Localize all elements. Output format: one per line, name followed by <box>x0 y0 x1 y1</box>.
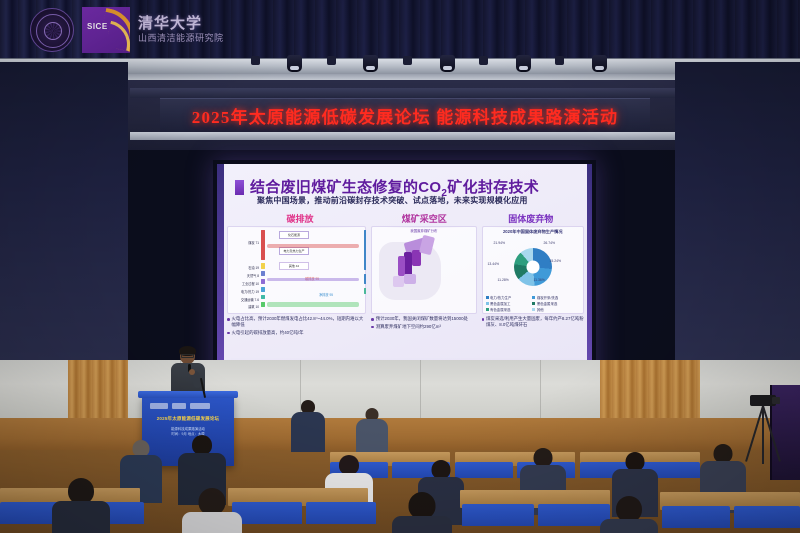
panel-pie-chart: 2020年中国固体废弃物生产情况 26.74% 21.94% 15.24% 13… <box>482 226 584 314</box>
stage-light-5 <box>592 55 607 72</box>
person-head <box>192 435 212 455</box>
stage-light-small-3 <box>403 56 412 65</box>
projection-screen: 结合废旧煤矿生态修复的CO2矿化封存技术 聚焦中国场景，推动前沿碳封存技术突破、… <box>213 160 596 393</box>
audience-seat <box>734 506 800 528</box>
slide-accent-right <box>587 164 592 389</box>
sankey-box-4: 净排放 95 <box>319 292 349 297</box>
slide-bullets: 火电占比高，预计2030年燃煤发电占比42.8～44.0%，短期内难以大幅降低 … <box>227 316 584 358</box>
wall-seam-4 <box>540 360 541 420</box>
sankey-label-1: 石油 19 <box>231 265 259 270</box>
person-head <box>409 492 436 519</box>
pie-chart-hole <box>526 261 539 274</box>
stage-light-3 <box>440 55 455 72</box>
bullet-item: 火电引起的碳排放量高，约40亿吨/年 <box>227 330 366 336</box>
legend-item-0: 电力/热力生产 <box>486 295 531 300</box>
bullet-item: 火电占比高，预计2030年燃煤发电占比42.8～44.0%，短期内难以大幅降低 <box>227 316 366 328</box>
legend-swatch-3 <box>532 302 535 305</box>
legend-label-1: 煤炭开采/洗选 <box>537 295 558 300</box>
bullet-text: 火电引起的碳排放量高，约40亿吨/年 <box>232 330 304 336</box>
stage-light-small-5 <box>555 56 564 65</box>
sankey-label-5: 交通运输 7.6 <box>229 297 259 302</box>
bullet-dot-icon <box>371 326 374 329</box>
person-head <box>339 455 359 475</box>
pie-label-3: 13.44% <box>488 262 500 266</box>
person-body <box>182 512 242 533</box>
legend-swatch-4 <box>486 308 489 311</box>
university-wordmark: 清华大学 山西清洁能源研究院 <box>138 16 224 44</box>
audience-seat <box>662 506 730 528</box>
slide-subtitle: 聚焦中国场景，推动前沿碳封存技术突破、试点落地，未来实现规模化应用 <box>257 195 528 206</box>
tsinghua-seal-icon <box>30 8 74 52</box>
legend-swatch-2 <box>486 302 489 305</box>
bullet-text: 火电占比高，预计2030年燃煤发电占比42.8～44.0%，短期内难以大幅降低 <box>232 316 367 328</box>
right-wall <box>675 62 800 362</box>
audience-seat <box>232 502 302 524</box>
conference-hall-photo: SICE 清华大学 山西清洁能源研究院 2025年太原能源低碳发展论坛 能源科技… <box>0 0 800 533</box>
audience-person-3-1 <box>52 478 110 533</box>
stage-light-2 <box>363 55 378 72</box>
speaker-glasses <box>181 354 194 358</box>
slide-title-main: 结合废旧煤矿生态修复的CO <box>250 179 441 196</box>
title-marker-icon <box>235 180 244 195</box>
sankey-node-4 <box>261 287 265 292</box>
sankey-node-6 <box>261 302 265 307</box>
bullet-column-emissions: 火电占比高，预计2030年燃煤发电占比42.8～44.0%，短期内难以大幅降低 … <box>227 316 366 358</box>
pie-label-5: 11.36% <box>534 278 545 282</box>
map-province-sichuan <box>393 276 404 287</box>
left-wall <box>0 62 128 362</box>
sankey-label-3: 工业过程 10 <box>231 281 259 286</box>
stage-light-1 <box>287 55 302 72</box>
audience-person-front-1 <box>290 400 326 450</box>
bullet-text: 预计2030年，我国关闭煤矿数量将达到15000处 <box>376 316 468 322</box>
bullet-column-goaf: 预计2030年，我国关闭煤矿数量将达到15000处 测算废弃煤矿地下空间约290… <box>371 316 476 358</box>
audience-seat <box>462 504 534 526</box>
person-body <box>600 519 658 533</box>
sankey-box-2: 其他 44 <box>279 262 309 270</box>
tripod-leg-left <box>745 406 764 462</box>
wall-seam-3 <box>420 360 421 420</box>
column-header-emissions-label: 碳排放 <box>286 214 313 224</box>
bullet-column-solid-waste: 煤炭采选/利用产生大量固废，每年约产8.27亿吨粉煤灰、8.0亿吨煤矸石 <box>482 316 584 358</box>
tripod-leg-center <box>762 406 764 464</box>
sankey-label-4: 电力/热力 19 <box>231 289 259 294</box>
event-banner: 2025年太原能源低碳发展论坛 能源科技成果路演活动 <box>160 98 650 132</box>
sankey-flow-3 <box>267 302 359 307</box>
bullet-dot-icon <box>227 318 230 321</box>
sankey-node-5 <box>261 295 265 299</box>
podium-top-surface <box>138 391 238 398</box>
stage-light-small-2 <box>327 56 336 65</box>
slide-accent-left <box>217 164 224 389</box>
legend-swatch-1 <box>532 296 535 299</box>
university-name: 清华大学 <box>138 16 224 33</box>
sankey-flow-2 <box>267 278 359 281</box>
sankey-node-out-3 <box>364 288 366 294</box>
sankey-label-2: 天然气 8 <box>231 273 259 278</box>
podium-title: 2025年太原能源低碳发展论坛 <box>148 416 228 422</box>
audience-seat <box>306 502 376 524</box>
bullet-dot-icon <box>371 318 374 321</box>
sankey-node-0 <box>261 230 265 260</box>
sankey-flow-1 <box>267 244 359 248</box>
legend-item-2: 黑色金属加工 <box>486 301 531 306</box>
speaker-hand <box>189 369 195 375</box>
legend-label-4: 有色金属采选 <box>490 307 510 312</box>
sankey-node-1 <box>261 263 265 269</box>
header-logo-bar: SICE 清华大学 山西清洁能源研究院 <box>0 0 260 60</box>
stage-light-4 <box>516 55 531 72</box>
bullet-text: 煤炭采选/利用产生大量固废，每年约产8.27亿吨粉煤灰、8.0亿吨煤矸石 <box>486 316 584 328</box>
sankey-node-out-2 <box>364 274 366 284</box>
tripod-leg-right <box>762 406 781 462</box>
legend-item-1: 煤炭开采/洗选 <box>532 295 577 300</box>
audience-person-front-2 <box>355 408 389 454</box>
banner-rail-bottom <box>130 132 675 140</box>
slide-panels: 煤炭 71 石油 19 天然气 8 工业过程 10 电力/热力 19 交通运输 … <box>227 226 584 314</box>
pie-label-4: 11.28% <box>498 278 509 282</box>
map-caption: 我国废弃煤矿分布 <box>371 228 476 233</box>
column-header-solid-waste-label: 固体废弃物 <box>508 214 553 224</box>
person-body <box>291 412 325 452</box>
person-body <box>392 516 452 533</box>
bullet-item: 煤炭采选/利用产生大量固废，每年约产8.27亿吨粉煤灰、8.0亿吨煤矸石 <box>482 316 584 328</box>
slide-title-tail: 矿化封存技术 <box>447 179 539 196</box>
sankey-label-0: 煤炭 71 <box>231 240 259 245</box>
video-camera-tripod <box>740 395 786 470</box>
legend-label-3: 黑色金属采选 <box>537 301 557 306</box>
legend-item-5: 其他 <box>532 307 577 312</box>
sankey-node-out <box>364 230 366 270</box>
presentation-slide: 结合废旧煤矿生态修复的CO2矿化封存技术 聚焦中国场景，推动前沿碳封存技术突破、… <box>217 164 592 389</box>
panel-sankey-diagram: 煤炭 71 石油 19 天然气 8 工业过程 10 电力/热力 19 交通运输 … <box>227 226 366 314</box>
stage-light-small-1 <box>251 56 260 65</box>
pie-chart-title: 2020年中国固体废弃物生产情况 <box>482 229 584 235</box>
institute-name: 山西清洁能源研究院 <box>138 33 224 43</box>
bullet-dot-icon <box>482 318 485 321</box>
event-banner-text: 2025年太原能源低碳发展论坛 能源科技成果路演活动 <box>192 103 618 128</box>
legend-item-3: 黑色金属采选 <box>532 301 577 306</box>
bullet-dot-icon <box>227 332 230 335</box>
sankey-node-3 <box>261 279 265 284</box>
sankey-node-2 <box>261 271 265 276</box>
bullet-item: 预计2030年，我国关闭煤矿数量将达到15000处 <box>371 316 476 322</box>
legend-item-4: 有色金属采选 <box>486 307 531 312</box>
column-header-goaf-label: 煤矿采空区 <box>402 214 447 224</box>
legend-swatch-5 <box>532 308 535 311</box>
sankey-box-0: 化石能源 <box>279 231 309 239</box>
sice-logo-icon: SICE <box>82 7 130 53</box>
podium-logo-2 <box>172 403 186 409</box>
stage-light-small-4 <box>479 56 488 65</box>
camera-lens-icon <box>772 397 780 404</box>
audience-person-3-4 <box>600 496 658 533</box>
legend-label-0: 电力/热力生产 <box>490 295 511 300</box>
pie-chart-legend: 电力/热力生产 煤炭开采/洗选 黑色金属加工 黑色金属采选 有色金属采选 其他 <box>486 295 581 312</box>
bullet-text: 测算废弃煤矿地下空间约290亿m³ <box>376 324 441 330</box>
legend-swatch-0 <box>486 296 489 299</box>
podium-logo-strip <box>150 402 226 410</box>
pie-label-0: 26.74% <box>544 241 556 245</box>
sankey-label-6: 建筑 10 <box>231 304 259 309</box>
banner-rail-top <box>130 88 675 98</box>
audience-person-3-2 <box>182 488 242 533</box>
map-province-shaanxi <box>398 256 405 276</box>
person-body <box>52 501 110 533</box>
pie-label-1: 21.94% <box>494 241 506 245</box>
bullet-item: 测算废弃煤矿地下空间约290亿m³ <box>371 324 476 330</box>
pie-label-2: 15.24% <box>550 259 562 263</box>
sankey-diagram: 煤炭 71 石油 19 天然气 8 工业过程 10 电力/热力 19 交通运输 … <box>227 226 366 314</box>
panel-china-map: 我国废弃煤矿分布 <box>371 226 476 314</box>
person-head <box>199 488 226 515</box>
podium-logo-1 <box>150 403 168 409</box>
podium-logo-3 <box>190 403 210 409</box>
map-province-henan <box>404 274 416 284</box>
legend-label-2: 黑色金属加工 <box>490 301 510 306</box>
audience-person-3-3 <box>392 492 452 533</box>
map-province-shanxi <box>404 252 412 276</box>
sankey-box-1: 电力及热力生产 <box>279 247 309 255</box>
legend-label-5: 其他 <box>537 307 544 312</box>
